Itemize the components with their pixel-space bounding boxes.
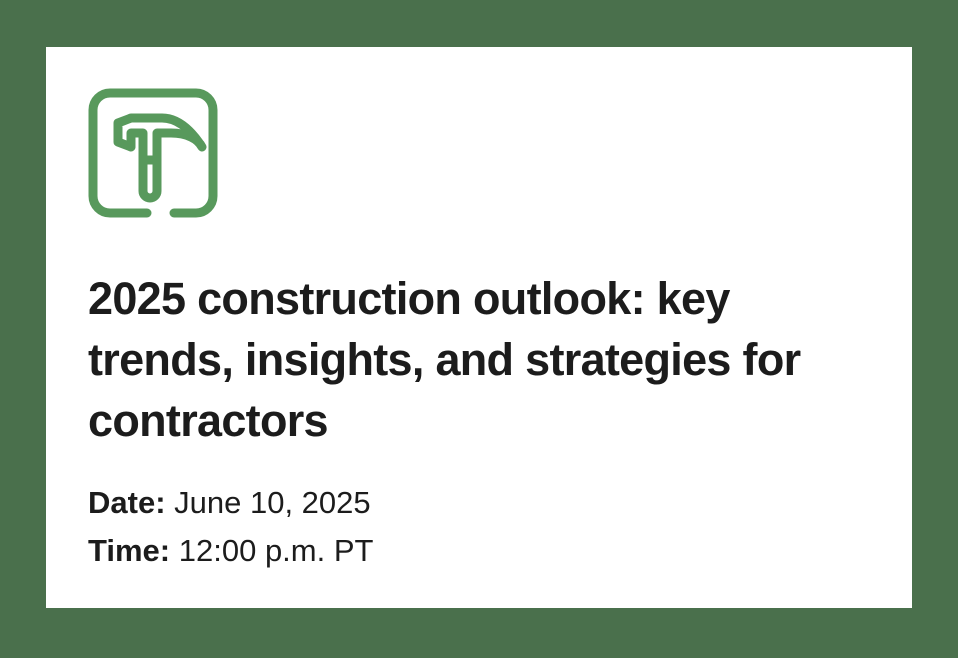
page-background: 2025 construction outlook: key trends, i… [0,0,958,658]
event-card: 2025 construction outlook: key trends, i… [46,47,912,608]
event-time-value: 12:00 p.m. PT [179,533,374,568]
page-title: 2025 construction outlook: key trends, i… [88,268,870,451]
event-time-label: Time: [88,533,170,568]
event-time-row: Time: 12:00 p.m. PT [88,527,870,575]
hammer-in-rounded-square-icon [88,88,218,218]
event-details: Date: June 10, 2025 Time: 12:00 p.m. PT [88,479,870,575]
event-date-label: Date: [88,485,166,520]
event-date-row: Date: June 10, 2025 [88,479,870,527]
event-date-value: June 10, 2025 [174,485,371,520]
